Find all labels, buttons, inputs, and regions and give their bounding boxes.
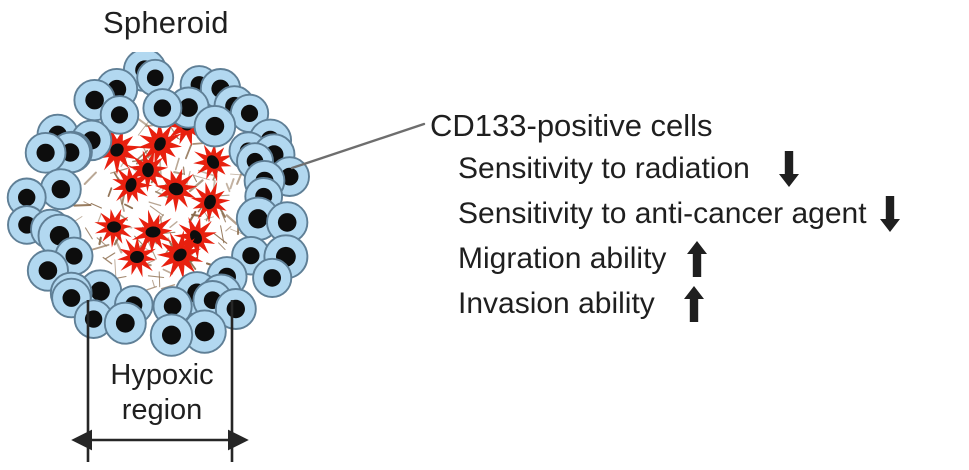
hypoxic-label-line1: Hypoxic bbox=[92, 358, 232, 393]
annotation-row: Sensitivity to anti-cancer agent bbox=[430, 191, 969, 236]
tumour-cell bbox=[105, 303, 146, 344]
tumour-cell bbox=[195, 106, 236, 147]
annotation-list: Sensitivity to radiationSensitivity to a… bbox=[430, 146, 969, 326]
annotation-block: CD133-positive cells Sensitivity to radi… bbox=[430, 106, 969, 326]
hypoxic-region-label: Hypoxic region bbox=[92, 358, 232, 428]
tumour-cell bbox=[26, 133, 66, 173]
down-arrow bbox=[873, 194, 907, 234]
annotation-row-text: Migration ability bbox=[458, 242, 666, 276]
annotation-row: Invasion ability bbox=[430, 281, 969, 326]
up-arrow bbox=[680, 239, 714, 279]
figure-canvas: Spheroid Hypoxic region CD133-positive c… bbox=[0, 0, 969, 470]
tumour-cell bbox=[253, 259, 291, 297]
annotation-row-text: Sensitivity to anti-cancer agent bbox=[458, 197, 867, 231]
tumour-cell bbox=[151, 314, 192, 355]
annotation-heading: CD133-positive cells bbox=[430, 106, 969, 146]
down-arrow bbox=[772, 149, 806, 189]
annotation-row: Sensitivity to radiation bbox=[430, 146, 969, 191]
tumour-cell bbox=[143, 89, 181, 127]
up-arrow bbox=[677, 284, 711, 324]
spheroid-illustration bbox=[0, 52, 330, 362]
tumour-cell bbox=[41, 169, 81, 209]
spheroid-svg bbox=[0, 52, 330, 362]
hypoxic-label-line2: region bbox=[92, 393, 232, 428]
outer-cells bbox=[8, 52, 309, 356]
annotation-row: Migration ability bbox=[430, 236, 969, 281]
annotation-row-text: Sensitivity to radiation bbox=[458, 152, 750, 186]
page-title: Spheroid bbox=[103, 5, 229, 41]
annotation-row-text: Invasion ability bbox=[458, 287, 655, 321]
